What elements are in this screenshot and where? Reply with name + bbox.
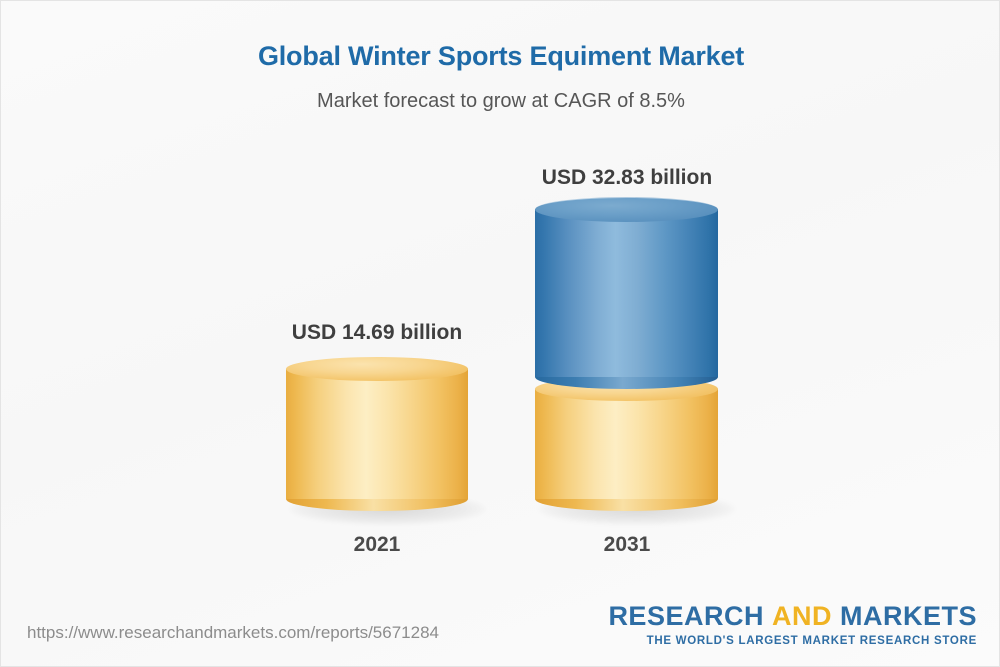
logo-word-and: AND (764, 601, 840, 631)
chart-canvas: Global Winter Sports Equiment Market Mar… (0, 0, 1000, 667)
plot-area: USD 14.69 billion 2021 USD 32.83 billio (1, 1, 1000, 601)
bar-value-label-2031: USD 32.83 billion (477, 166, 777, 190)
source-url[interactable]: https://www.researchandmarkets.com/repor… (27, 623, 439, 643)
cylinder-body-yellow-2031 (535, 389, 718, 499)
cylinder-body-2021 (286, 369, 468, 499)
cylinder-top-cap-2031 (535, 197, 718, 222)
logo-word-research: RESEARCH (608, 601, 764, 631)
logo-word-markets: MARKETS (840, 601, 977, 631)
category-label-2031: 2031 (477, 533, 777, 557)
cylinder-body-blue-2031 (535, 209, 718, 377)
bar-segment-yellow-2021 (286, 357, 468, 523)
brand-logo: RESEARCH AND MARKETS THE WORLD'S LARGEST… (608, 603, 977, 647)
logo-wordmark: RESEARCH AND MARKETS (608, 603, 977, 630)
bar-cylinder-2021[interactable] (286, 357, 468, 523)
bar-cylinder-2031[interactable] (535, 197, 718, 523)
cylinder-top-cap-2021 (286, 357, 468, 381)
bar-segment-blue-2031 (535, 197, 718, 401)
logo-tagline: THE WORLD'S LARGEST MARKET RESEARCH STOR… (608, 635, 977, 647)
bar-value-label-2021: USD 14.69 billion (227, 321, 527, 345)
